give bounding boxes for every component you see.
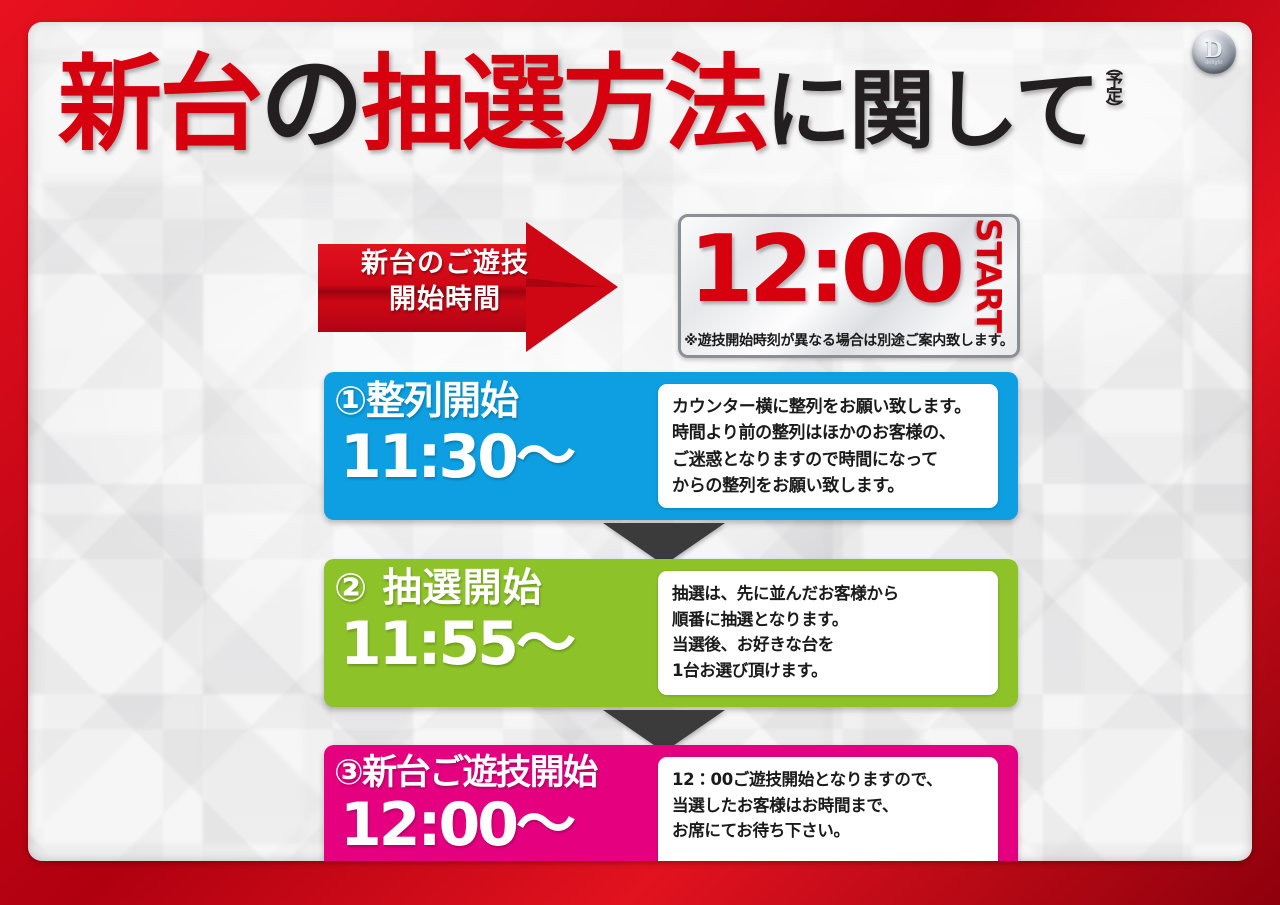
- step-1-note-line-3: ご迷惑となりますので時間になって: [672, 447, 984, 473]
- start-time-section: 新台のご遊技 開始時間 12:00 START ※遊技開始時刻が異なる場合は別途…: [28, 214, 1252, 360]
- step-2-note-line-4: 1台お選び頂けます。: [672, 658, 984, 684]
- start-disclaimer: ※遊技開始時刻が異なる場合は別途ご案内致します。: [681, 330, 1017, 350]
- step-2-time: 11:55〜: [334, 614, 654, 675]
- start-time-value: 12:00: [689, 214, 939, 325]
- step-1-label: ①整列開始 11:30〜: [334, 380, 654, 512]
- step-1-title: ①整列開始: [334, 380, 654, 425]
- step-3-note-line-1: 12：00ご遊技開始となりますので、: [672, 767, 984, 793]
- poster-board: D delight 新台の抽選方法に関して（予定） 新台のご遊技 開始時間: [28, 22, 1252, 861]
- step-2-note: 抽選は、先に並んだお客様から 順番に抽選となります。 当選後、お好きな台を 1台…: [658, 571, 998, 695]
- title-part-nikanshite: に関して: [765, 61, 1098, 161]
- step-2-note-line-3: 当選後、お好きな台を: [672, 632, 984, 658]
- step-2-title: ② 抽選開始: [334, 567, 654, 612]
- arrow-label: 新台のご遊技 開始時間: [336, 246, 554, 317]
- page-title: 新台の抽選方法に関して（予定）: [58, 38, 1218, 170]
- title-part-shindai: 新台: [58, 43, 260, 165]
- start-label-text: START: [968, 218, 1008, 332]
- start-arrow: 新台のご遊技 開始時間: [318, 222, 618, 352]
- step-2-note-line-2: 順番に抽選となります。: [672, 607, 984, 633]
- step-1-note-line-1: カウンター横に整列をお願い致します。: [672, 394, 984, 420]
- step-2-note-line-1: 抽選は、先に並んだお客様から: [672, 581, 984, 607]
- title-part-no: の: [260, 43, 361, 165]
- step-3-note-line-3: お席にてお待ち下さい。: [672, 818, 984, 844]
- title-part-chusen: 抽選: [361, 43, 563, 165]
- poster-root: D delight 新台の抽選方法に関して（予定） 新台のご遊技 開始時間: [0, 0, 1280, 905]
- start-time-box: 12:00 START ※遊技開始時刻が異なる場合は別途ご案内致します。: [678, 214, 1020, 358]
- step-3-title: ③新台ご遊技開始: [334, 753, 654, 793]
- step-3-time: 12:00〜: [334, 795, 654, 856]
- title-note-yotei: （予定）: [1102, 58, 1119, 132]
- step-3-note-line-2: 当選したお客様はお時間まで、: [672, 793, 984, 819]
- step-1-note: カウンター横に整列をお願い致します。 時間より前の整列はほかのお客様の、 ご迷惑…: [658, 384, 998, 508]
- step-row-2: ② 抽選開始 11:55〜 抽選は、先に並んだお客様から 順番に抽選となります。…: [324, 559, 1018, 707]
- arrow-label-line2: 開始時間: [336, 282, 554, 318]
- step-3-label: ③新台ご遊技開始 12:00〜: [334, 753, 654, 861]
- step-1-note-line-4: からの整列をお願い致します。: [672, 473, 984, 499]
- title-part-houhou: 方法: [563, 43, 765, 165]
- step-row-3: ③新台ご遊技開始 12:00〜 12：00ご遊技開始となりますので、 当選したお…: [324, 745, 1018, 861]
- start-label-vertical: START: [965, 223, 1011, 327]
- step-2-label: ② 抽選開始 11:55〜: [334, 567, 654, 699]
- arrow-label-line1: 新台のご遊技: [336, 246, 554, 282]
- step-row-1: ①整列開始 11:30〜 カウンター横に整列をお願い致します。 時間より前の整列…: [324, 372, 1018, 520]
- step-1-time: 11:30〜: [334, 427, 654, 488]
- step-1-note-line-2: 時間より前の整列はほかのお客様の、: [672, 420, 984, 446]
- step-3-note: 12：00ご遊技開始となりますので、 当選したお客様はお時間まで、 お席にてお待…: [658, 757, 998, 861]
